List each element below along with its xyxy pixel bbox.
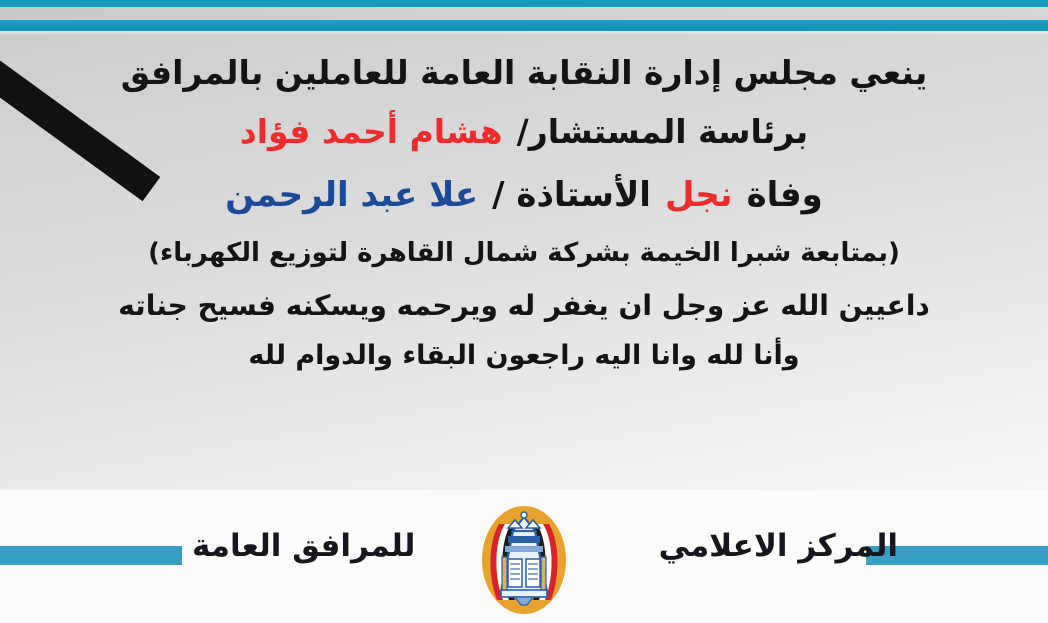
poster-footer: المركز الاعلامي للمرافق العامة xyxy=(0,490,1048,623)
chairman-name: هشام أحمد فؤاد xyxy=(240,112,503,151)
union-lantern-emblem-icon xyxy=(475,504,573,616)
footer-teal-bar-left xyxy=(0,546,182,565)
public-utilities-label: للمرافق العامة xyxy=(192,528,415,564)
relation-word: نجل xyxy=(665,175,733,215)
announcement-line-6: وأنا لله وانا اليه راجعون البقاء والدوام… xyxy=(0,342,1048,369)
obituary-poster: ينعي مجلس إدارة النقابة العامة للعاملين … xyxy=(0,0,1048,623)
top-teal-rule-1 xyxy=(0,0,1048,7)
announcement-line-5: داعيين الله عز وجل ان يغفر له ويرحمه ويس… xyxy=(0,292,1048,320)
deceased-relative-name: علا عبد الرحمن xyxy=(225,175,478,215)
announcement-line-2: برئاسة المستشار/هشام أحمد فؤاد xyxy=(0,115,1048,148)
title-word: الأستاذة / xyxy=(492,175,651,215)
line1-text: ينعي مجلس إدارة النقابة العامة للعاملين … xyxy=(121,53,928,92)
announcement-line-3: وفاةنجلالأستاذة /علا عبد الرحمن xyxy=(0,178,1048,212)
prayer-line-1: داعيين الله عز وجل ان يغفر له ويرحمه ويس… xyxy=(118,289,930,322)
top-teal-rule-2 xyxy=(0,20,1048,31)
media-center-label: المركز الاعلامي xyxy=(659,528,898,564)
announcement-line-1: ينعي مجلس إدارة النقابة العامة للعاملين … xyxy=(0,56,1048,89)
prayer-line-2: وأنا لله وانا اليه راجعون البقاء والدوام… xyxy=(248,340,799,371)
top-rule-highlight xyxy=(0,31,1048,34)
announcement-body: ينعي مجلس إدارة النقابة العامة للعاملين … xyxy=(0,48,1048,369)
death-word: وفاة xyxy=(747,175,823,215)
chairman-prefix: برئاسة المستشار/ xyxy=(517,112,809,151)
announcement-line-4: (بمتابعة شبرا الخيمة بشركة شمال القاهرة … xyxy=(0,240,1048,266)
workplace-note: (بمتابعة شبرا الخيمة بشركة شمال القاهرة … xyxy=(148,238,900,268)
